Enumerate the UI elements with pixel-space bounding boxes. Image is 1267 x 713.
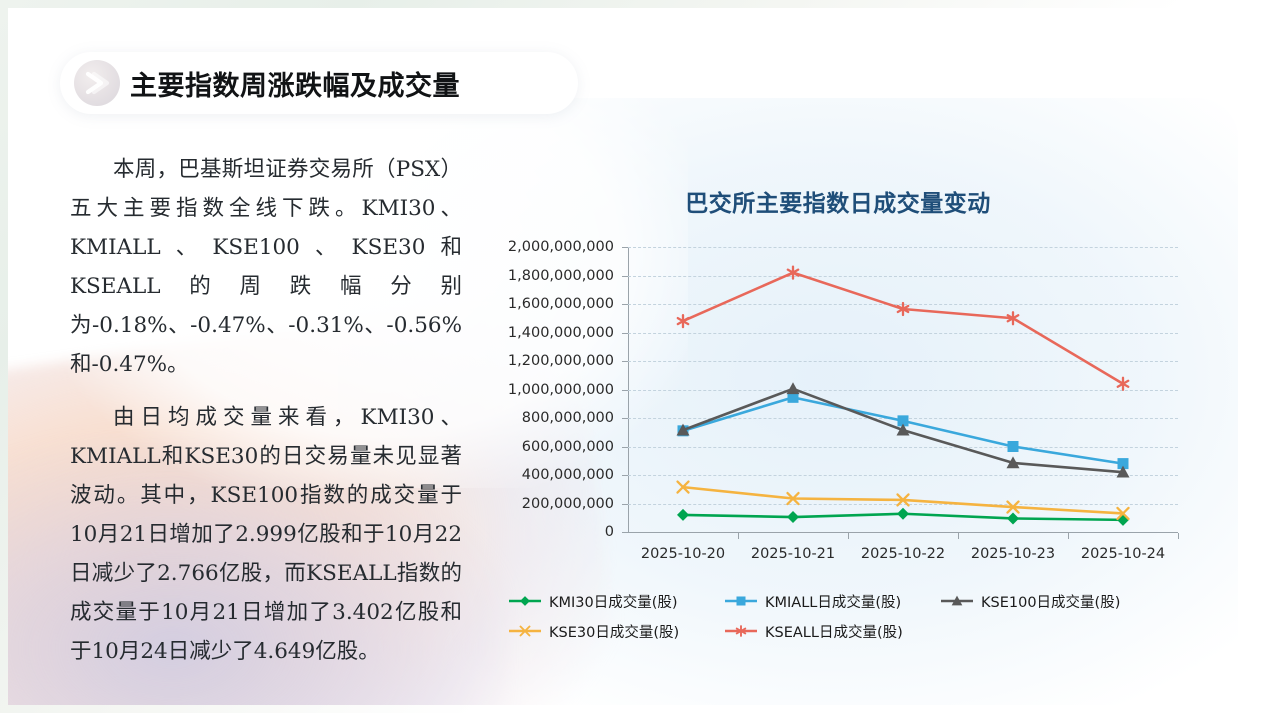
legend-marker-triangle (940, 594, 974, 608)
slide-card: 主要指数周涨跌幅及成交量 本周，巴基斯坦证券交易所（PSX）五大主要指数全线下跌… (8, 8, 1259, 705)
chart-series-4 (678, 267, 1128, 390)
legend-item-0[interactable]: KMI30日成交量(股) (508, 586, 724, 616)
legend-marker-x (508, 624, 542, 638)
article-body: 本周，巴基斯坦证券交易所（PSX）五大主要指数全线下跌。KMI30、KMIALL… (70, 150, 462, 671)
chart-series-2 (677, 382, 1130, 477)
legend-label: KSE100日成交量(股) (981, 591, 1120, 612)
paragraph-2: 由日均成交量来看，KMI30、KMIALL和KSE30的日交易量未见显著波动。其… (70, 398, 462, 671)
chart-marker-triangle (787, 382, 800, 394)
legend-marker-square (724, 594, 758, 608)
chart-marker-diamond (1117, 514, 1129, 526)
chart-marker-diamond (897, 508, 909, 520)
slide-title-bar: 主要指数周涨跌幅及成交量 (60, 52, 578, 114)
chart-marker-diamond (787, 511, 799, 523)
chart-series-layer (478, 158, 1198, 598)
legend-marker-asterisk (724, 624, 758, 638)
legend-label: KSEALL日成交量(股) (765, 621, 903, 642)
legend-label: KSE30日成交量(股) (549, 621, 679, 642)
volume-line-chart: 巴交所主要指数日成交量变动 2,000,000,0001,800,000,000… (478, 158, 1198, 668)
chart-marker-square (736, 596, 745, 605)
legend-label: KMI30日成交量(股) (549, 591, 678, 612)
legend-marker-diamond (508, 594, 542, 608)
chart-marker-asterisk (678, 315, 688, 327)
legend-item-3[interactable]: KSE30日成交量(股) (508, 616, 724, 646)
legend-label: KMIALL日成交量(股) (765, 591, 901, 612)
paragraph-1: 本周，巴基斯坦证券交易所（PSX）五大主要指数全线下跌。KMI30、KMIALL… (70, 150, 462, 384)
legend-item-2[interactable]: KSE100日成交量(股) (940, 586, 1165, 616)
chart-marker-diamond (677, 509, 689, 521)
chart-legend: KMI30日成交量(股)KMIALL日成交量(股)KSE100日成交量(股)KS… (478, 586, 1198, 646)
legend-item-1[interactable]: KMIALL日成交量(股) (724, 586, 940, 616)
legend-item-4[interactable]: KSEALL日成交量(股) (724, 616, 940, 646)
chart-line (683, 273, 1123, 384)
chart-marker-diamond (1007, 512, 1019, 524)
chart-marker-diamond (520, 596, 530, 606)
page-title: 主要指数周涨跌幅及成交量 (130, 64, 460, 103)
chevron-right-icon (74, 60, 120, 106)
chart-marker-square (1008, 441, 1019, 452)
chart-plot-area: 2,000,000,0001,800,000,0001,600,000,0001… (478, 158, 1198, 598)
chart-marker-asterisk (1118, 378, 1128, 390)
